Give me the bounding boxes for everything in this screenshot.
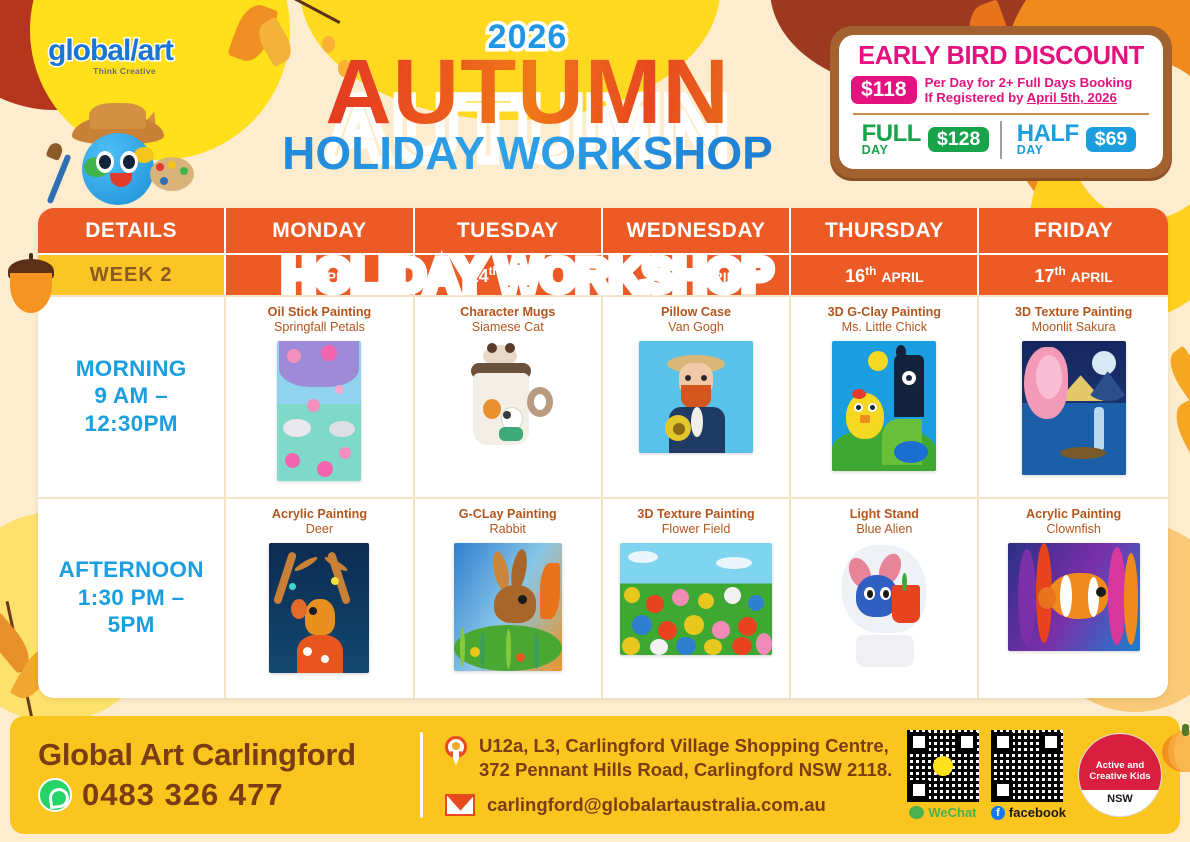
activity-title: Acrylic Painting [272,507,367,522]
afternoon-label: AFTERNOON [59,556,204,583]
artwork-chick-clay [832,341,936,471]
morning-label: MORNING [76,355,187,382]
wechat-qr-code[interactable] [907,730,979,802]
address-line-1: U12a, L3, Carlingford Village Shopping C… [479,734,892,758]
activity-cell-thursday-afternoon: Light Stand Blue Alien [791,499,979,698]
artwork-flower-field [620,543,772,655]
facebook-qr-code[interactable] [991,730,1063,802]
badge-line-1: Active and [1079,760,1161,771]
activity-subject: Springfall Petals [274,320,365,335]
date-suffix: th [1054,264,1065,278]
afternoon-time-cell: AFTERNOON 1:30 PM – 5PM [38,499,226,698]
globe-mascot [38,95,198,220]
email-address[interactable]: carlingford@globalartaustralia.com.au [487,794,826,816]
activity-title: 3D Texture Painting [1015,305,1132,320]
phone-number[interactable]: 0483 326 477 [82,777,284,813]
promo-terms-line1: Per Day for 2+ Full Days Booking [925,75,1133,91]
whatsapp-icon[interactable] [38,778,72,812]
artwork-clownfish [1008,543,1140,651]
date-month: APRIL [881,269,923,285]
artwork-blossom-painting [277,341,361,481]
poster-title: 2026 AUTUMN AUTUMN HOLIDAY WORKSHOP HOLI… [255,18,800,176]
activity-subject: Siamese Cat [472,320,544,335]
activity-subject: Van Gogh [668,320,724,335]
activity-subject: Deer [306,522,333,537]
artwork-sakura-night [1022,341,1126,475]
activity-subject: Clownfish [1046,522,1101,537]
date-suffix: th [865,264,876,278]
activity-cell-monday-morning: Oil Stick Painting Springfall Petals [226,297,414,497]
nsw-government-logo: NSW [1079,793,1161,805]
badge-line-2: Creative Kids [1079,771,1161,782]
activity-title: Light Stand [850,507,919,522]
activity-title: Acrylic Painting [1026,507,1121,522]
full-day-label: FULL [862,123,921,145]
wechat-label: WeChat [928,805,976,820]
half-day-pricing: HALF DAY $69 [1002,123,1151,157]
facebook-icon: f [991,806,1005,820]
footer-contact-bar: Global Art Carlingford 0483 326 477 U12a… [10,716,1180,834]
morning-time-line2: 12:30PM [76,410,187,437]
wechat-icon [909,806,924,819]
globalart-logo: global/art Think Creative [48,34,173,76]
date-day: 17 [1034,266,1054,286]
activity-title: Oil Stick Painting [268,305,372,320]
promo-deadline: April 5th, 2026 [1027,90,1117,105]
activity-subject: Rabbit [490,522,526,537]
column-header-monday: MONDAY [226,208,414,253]
activity-title: 3D G-Clay Painting [828,305,941,320]
morning-time-line1: 9 AM – [76,382,187,409]
activity-subject: Blue Alien [856,522,912,537]
promo-heading: EARLY BIRD DISCOUNT [851,43,1151,70]
activity-cell-friday-morning: 3D Texture Painting Moonlit Sakura [979,297,1167,497]
activity-cell-wednesday-afternoon: 3D Texture Painting Flower Field [603,499,791,698]
activity-cell-monday-afternoon: Acrylic Painting Deer [226,499,414,698]
date-thursday: 16th APRIL [791,253,979,295]
column-header-thursday: THURSDAY [791,208,979,253]
promo-terms-line2: If Registered by [925,90,1027,105]
promo-divider [853,113,1149,115]
activity-title: G-CLay Painting [459,507,557,522]
wechat-qr-block[interactable]: WeChat [907,730,979,820]
full-day-pricing: FULL DAY $128 [851,123,1000,157]
activity-cell-tuesday-afternoon: G-CLay Painting Rabbit [415,499,603,698]
activity-cell-tuesday-morning: Character Mugs Siamese Cat [415,297,603,497]
activity-cell-thursday-morning: 3D G-Clay Painting Ms. Little Chick [791,297,979,497]
afternoon-time-line1: 1:30 PM – [59,584,204,611]
facebook-qr-block[interactable]: f facebook [991,730,1066,820]
envelope-icon [445,794,475,816]
morning-session-row: MORNING 9 AM – 12:30PM Oil Stick Paintin… [38,295,1168,497]
date-month: APRIL [1071,269,1113,285]
activity-title: Character Mugs [460,305,555,320]
full-day-price: $128 [928,127,989,152]
half-day-price: $69 [1086,127,1137,152]
column-header-wednesday: WEDNESDAY [603,208,791,253]
morning-time-cell: MORNING 9 AM – 12:30PM [38,297,226,497]
afternoon-session-row: AFTERNOON 1:30 PM – 5PM Acrylic Painting… [38,497,1168,698]
half-day-label: HALF [1017,123,1079,145]
artwork-van-gogh-pillow [639,341,753,453]
date-day: 16 [845,266,865,286]
table-header-row: DETAILS MONDAY TUESDAY WEDNESDAY THURSDA… [38,208,1168,253]
active-creative-kids-badge: Active and Creative Kids NSW [1078,733,1162,817]
artwork-cat-mug [443,341,573,461]
activity-subject: Moonlit Sakura [1032,320,1116,335]
title-subtitle-outline: HOLIDAY WORKSHOP [255,248,800,302]
activity-title: Pillow Case [661,305,731,320]
date-friday: 17th APRIL [979,253,1167,295]
activity-subject: Flower Field [662,522,731,537]
facebook-label: facebook [1009,805,1066,820]
artwork-rabbit-painting [454,543,562,671]
title-subtitle: HOLIDAY WORKSHOP [255,130,800,176]
activity-cell-wednesday-morning: Pillow Case Van Gogh [603,297,791,497]
afternoon-time-line2: 5PM [59,611,204,638]
artwork-alien-lamp [836,543,932,673]
activity-title: 3D Texture Painting [637,507,754,522]
activity-cell-friday-afternoon: Acrylic Painting Clownfish [979,499,1167,698]
early-bird-promo-box: EARLY BIRD DISCOUNT $118 Per Day for 2+ … [830,26,1172,178]
column-header-tuesday: TUESDAY [415,208,603,253]
week-label: WEEK 2 [38,253,226,295]
logo-wordmark: global/art [48,34,173,68]
activity-subject: Ms. Little Chick [842,320,927,335]
title-autumn: AUTUMN [255,49,800,136]
location-pin-icon [445,736,467,766]
address-line-2: 372 Pennant Hills Road, Carlingford NSW … [479,758,892,782]
column-header-friday: FRIDAY [979,208,1167,253]
early-bird-price-badge: $118 [851,76,917,104]
artwork-deer-painting [269,543,369,673]
branch-name: Global Art Carlingford [38,737,420,773]
